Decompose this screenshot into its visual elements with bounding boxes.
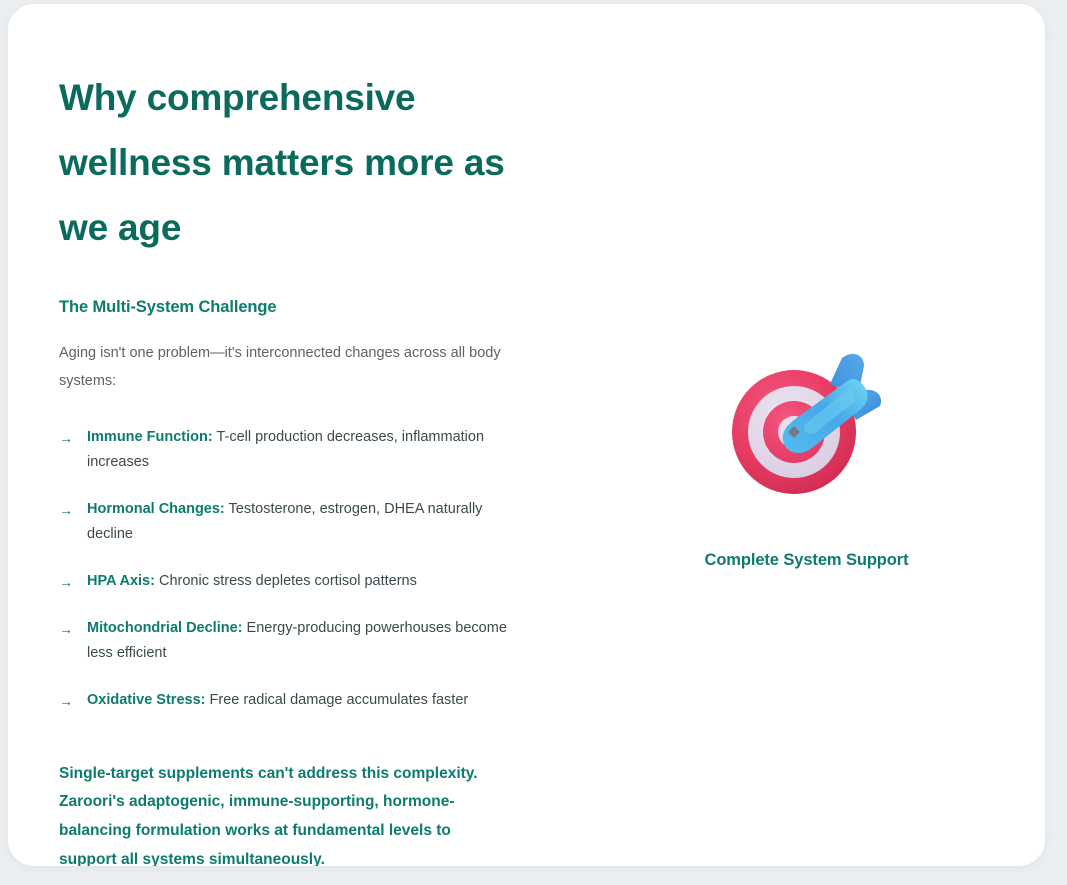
list-item-text: Immune Function: T-cell production decre… (87, 425, 507, 475)
illustration-column: Complete System Support (568, 4, 1045, 570)
list-item: → Hormonal Changes: Testosterone, estrog… (59, 497, 529, 547)
list-item-label: Immune Function: (87, 429, 213, 445)
list-item-description: Chronic stress depletes cortisol pattern… (155, 573, 417, 589)
arrow-right-icon: → (59, 569, 87, 595)
arrow-right-icon: → (59, 616, 87, 642)
list-item-label: Oxidative Stress: (87, 692, 205, 708)
list-item-text: Mitochondrial Decline: Energy-producing … (87, 616, 507, 666)
list-item-text: Hormonal Changes: Testosterone, estrogen… (87, 497, 507, 547)
arrow-right-icon: → (59, 688, 87, 714)
intro-paragraph: Aging isn't one problem—it's interconnec… (59, 340, 511, 396)
list-item-description: Free radical damage accumulates faster (205, 692, 468, 708)
list-item-text: Oxidative Stress: Free radical damage ac… (87, 688, 507, 713)
list-item: → HPA Axis: Chronic stress depletes cort… (59, 569, 529, 595)
dart-target-icon (724, 344, 890, 496)
closing-statement: Single-target supplements can't address … (59, 760, 489, 866)
list-item: → Oxidative Stress: Free radical damage … (59, 688, 529, 714)
text-column: Why comprehensive wellness matters more … (8, 4, 568, 866)
content-card: Why comprehensive wellness matters more … (8, 4, 1045, 866)
page-title: Why comprehensive wellness matters more … (59, 66, 509, 260)
list-item: → Immune Function: T-cell production dec… (59, 425, 529, 475)
list-item-label: Hormonal Changes: (87, 501, 225, 517)
list-item-text: HPA Axis: Chronic stress depletes cortis… (87, 569, 507, 594)
list-item: → Mitochondrial Decline: Energy-producin… (59, 616, 529, 666)
list-item-label: Mitochondrial Decline: (87, 620, 243, 636)
card-inner: Why comprehensive wellness matters more … (8, 4, 1045, 866)
arrow-right-icon: → (59, 497, 87, 523)
arrow-right-icon: → (59, 425, 87, 451)
challenge-list: → Immune Function: T-cell production dec… (59, 425, 529, 714)
section-subtitle: The Multi-System Challenge (59, 298, 568, 317)
list-item-label: HPA Axis: (87, 573, 155, 589)
illustration-caption: Complete System Support (705, 551, 909, 570)
